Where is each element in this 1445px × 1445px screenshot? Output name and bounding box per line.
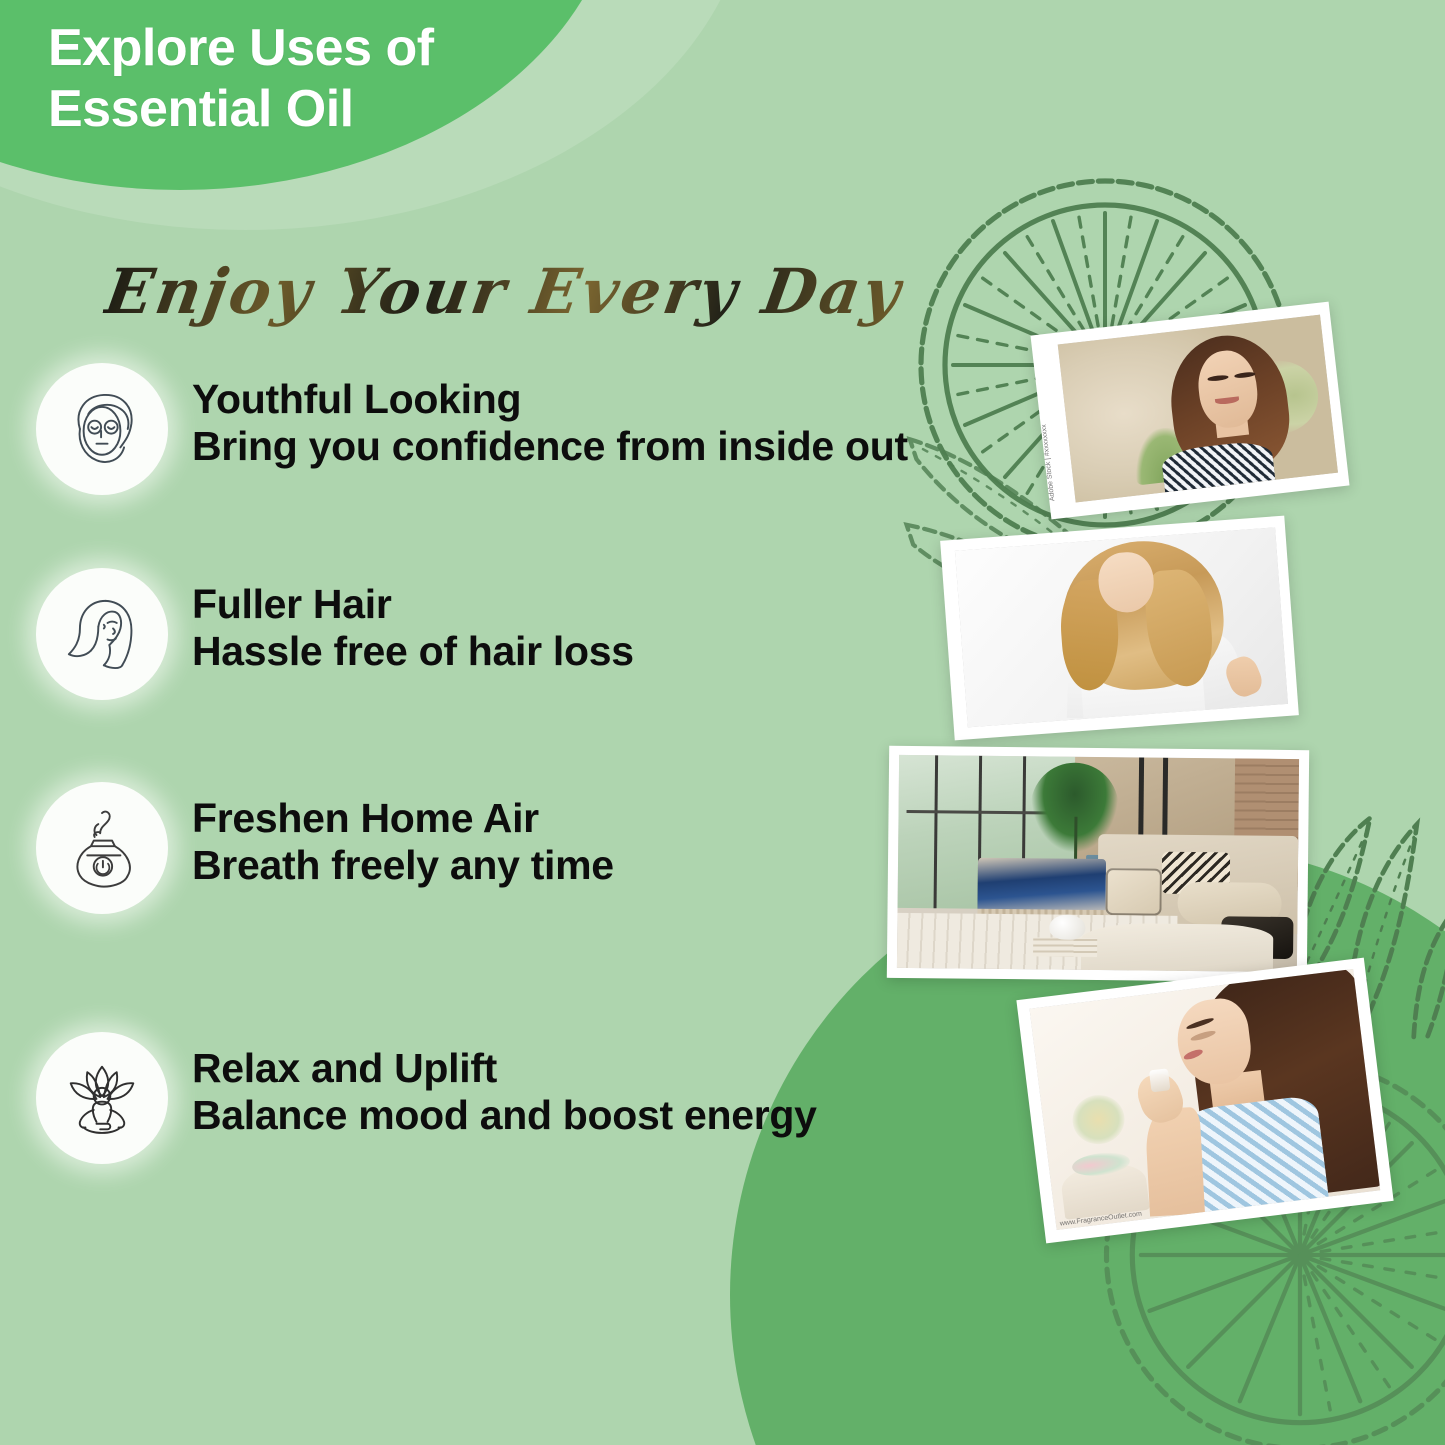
benefit-title-2: Fuller Hair	[192, 582, 634, 626]
page-title: Explore Uses of Essential Oil	[48, 18, 434, 141]
benefit-title-3: Freshen Home Air	[192, 796, 614, 840]
benefit-text-4: Relax and Uplift Balance mood and boost …	[192, 1032, 817, 1139]
benefit-text-1: Youthful Looking Bring you confidence fr…	[192, 363, 908, 470]
photo-living-room	[887, 746, 1309, 982]
benefit-row-youthful-looking: Youthful Looking Bring you confidence fr…	[36, 363, 908, 495]
page-title-line-2: Essential Oil	[48, 79, 434, 140]
photo-living-room-image	[897, 755, 1299, 972]
infographic-canvas: Explore Uses of Essential Oil Enjoy Your…	[0, 0, 1445, 1445]
benefit-row-relax-and-uplift: Relax and Uplift Balance mood and boost …	[36, 1032, 817, 1164]
photo-perfume-application-image	[1030, 969, 1381, 1230]
photo-long-blonde-hair	[940, 516, 1299, 741]
benefit-row-fuller-hair: Fuller Hair Hassle free of hair loss	[36, 568, 634, 700]
tagline: Enjoy Your Every Day	[100, 255, 908, 328]
benefit-row-freshen-home-air: Freshen Home Air Breath freely any time	[36, 782, 614, 914]
photo-smiling-woman: Adobe Stock | #xxxxxxxx	[1030, 302, 1349, 520]
aroma-diffuser-icon	[36, 782, 168, 914]
photo-perfume-application: www.FragranceOutlet.com	[1016, 958, 1393, 1244]
facial-mask-icon	[36, 363, 168, 495]
benefit-subtitle-1: Bring you confidence from inside out	[192, 424, 908, 470]
benefit-text-2: Fuller Hair Hassle free of hair loss	[192, 568, 634, 675]
benefit-subtitle-3: Breath freely any time	[192, 843, 614, 889]
page-title-line-1: Explore Uses of	[48, 18, 434, 79]
benefit-subtitle-4: Balance mood and boost energy	[192, 1093, 817, 1139]
benefit-title-4: Relax and Uplift	[192, 1046, 817, 1090]
lotus-meditation-icon	[36, 1032, 168, 1164]
long-hair-profile-icon	[36, 568, 168, 700]
photo-smiling-woman-image	[1058, 315, 1338, 503]
photo-long-blonde-hair-image	[955, 527, 1288, 727]
benefit-title-1: Youthful Looking	[192, 377, 908, 421]
benefit-subtitle-2: Hassle free of hair loss	[192, 629, 634, 675]
benefit-text-3: Freshen Home Air Breath freely any time	[192, 782, 614, 889]
